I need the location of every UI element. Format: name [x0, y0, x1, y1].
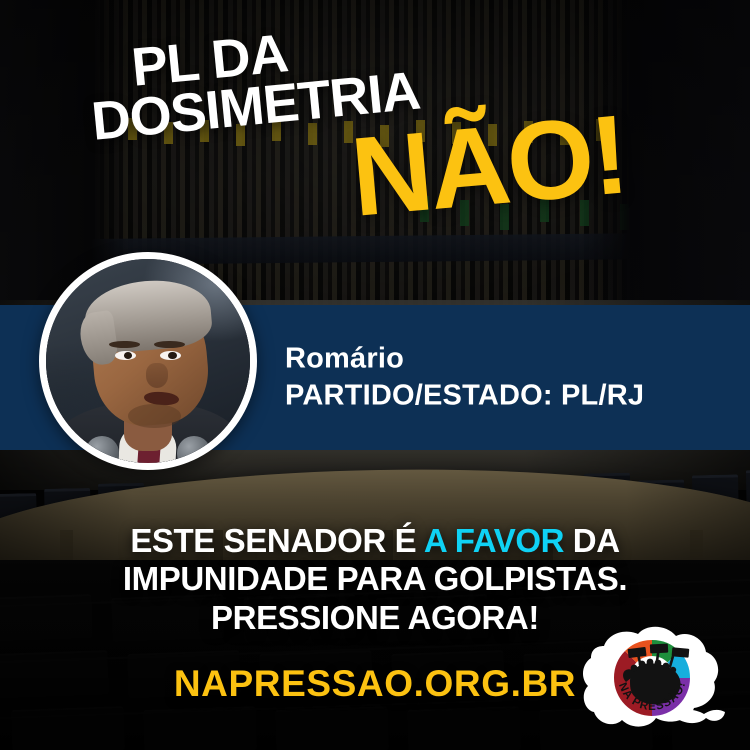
politician-photo [46, 259, 250, 463]
photo-chin [128, 404, 181, 428]
message-highlight: A FAVOR [424, 522, 564, 559]
photo-pupil-left [124, 352, 132, 359]
message-line-1: ESTE SENADOR É A FAVOR DA [0, 522, 750, 560]
campaign-poster: PL DA DOSIMETRIA NÃO! Romário PARTIDO/ES… [0, 0, 750, 750]
message-part-1: ESTE SENADOR É [130, 522, 424, 559]
microphone-right [177, 436, 212, 463]
message-part-2: DA [564, 522, 620, 559]
photo-brow-left [109, 341, 140, 348]
photo-nose [146, 363, 168, 387]
photo-brow-right [154, 341, 185, 348]
photo-pupil-right [168, 352, 176, 359]
politician-avatar [39, 252, 257, 470]
politician-name: Romário [285, 340, 644, 378]
politician-info: Romário PARTIDO/ESTADO: PL/RJ [285, 340, 644, 415]
politician-party-state: PARTIDO/ESTADO: PL/RJ [285, 378, 644, 416]
microphone-left [85, 436, 120, 463]
na-pressao-logo[interactable]: NA PRESSÃO! [578, 620, 726, 742]
message-line-2: IMPUNIDADE PARA GOLPISTAS. [0, 560, 750, 598]
